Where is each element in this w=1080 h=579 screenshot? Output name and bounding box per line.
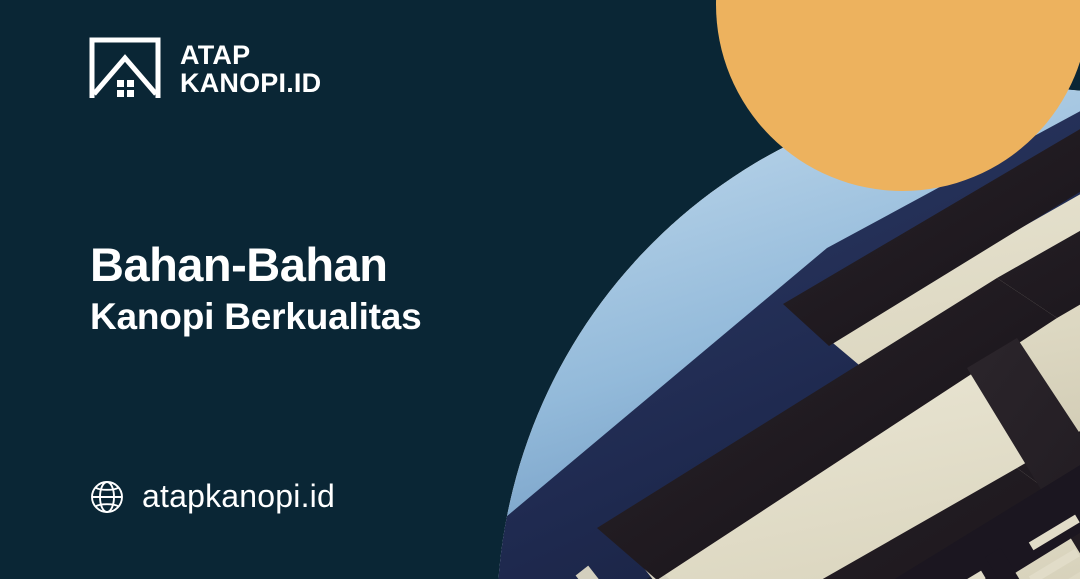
brand-logo-text: ATAP KANOPI.ID bbox=[180, 41, 321, 97]
brand-logo[interactable]: ATAP KANOPI.ID bbox=[88, 36, 321, 102]
headline-line2: Kanopi Berkualitas bbox=[90, 296, 422, 339]
house-roof-icon bbox=[88, 36, 162, 102]
page-title: Bahan-Bahan Kanopi Berkualitas bbox=[90, 240, 422, 338]
brand-logo-line2: KANOPI.ID bbox=[180, 69, 321, 97]
globe-icon bbox=[89, 479, 125, 515]
brand-logo-line1: ATAP bbox=[180, 41, 321, 69]
headline-line1: Bahan-Bahan bbox=[90, 240, 422, 291]
website-label: atapkanopi.id bbox=[142, 478, 335, 515]
website-link[interactable]: atapkanopi.id bbox=[89, 478, 335, 515]
banner-canvas: ATAP KANOPI.ID Bahan-Bahan Kanopi Berkua… bbox=[0, 0, 1080, 579]
